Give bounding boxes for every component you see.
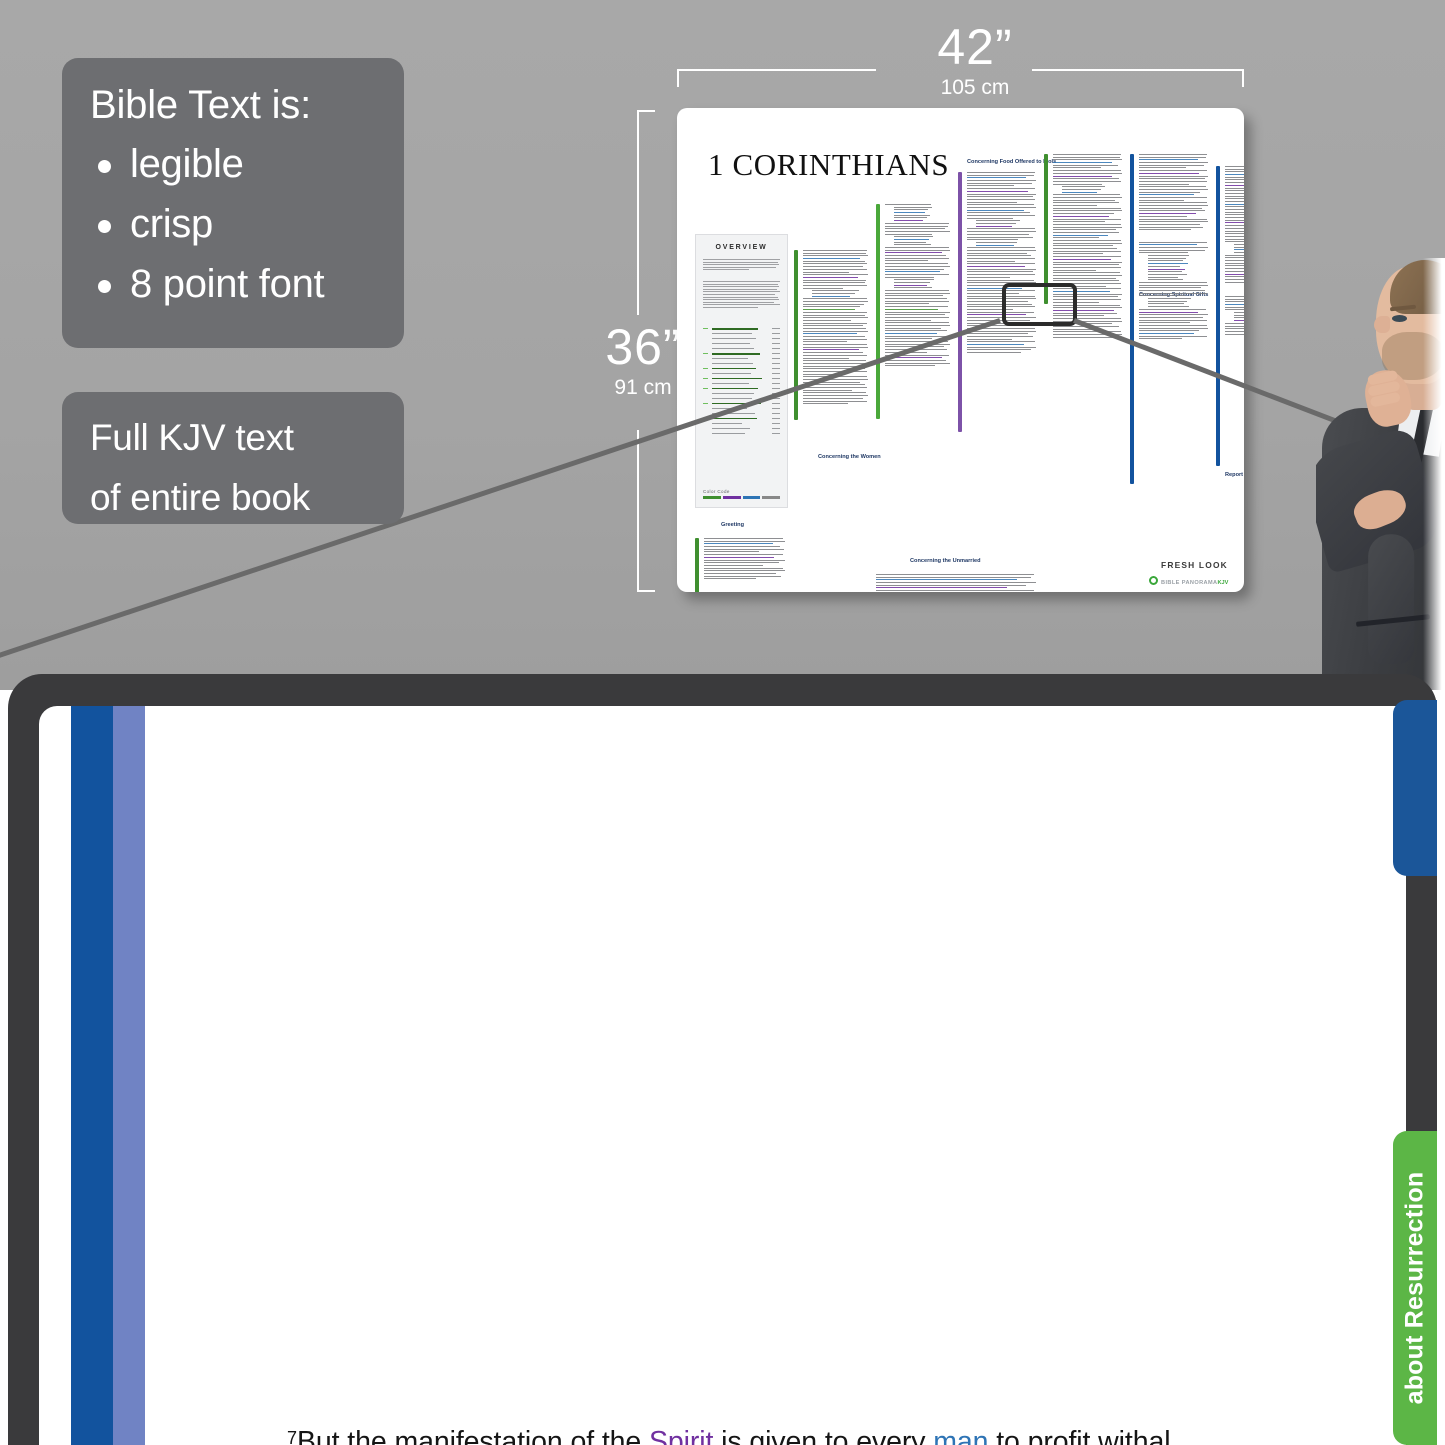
overview-body-text [703, 281, 780, 310]
businessman-photo [1316, 258, 1445, 690]
color-code-label: Color Code [703, 489, 780, 494]
nose [1374, 316, 1390, 333]
fresh-look-logo: FRESH LOOK BIBLE PANORAMAKJV www.freshlo… [1149, 556, 1241, 592]
chapter-spine-dark-blue [71, 706, 113, 1445]
poster-column-greeting: Greeting [695, 524, 785, 592]
poster-width-dimension: 42” 105 cm [880, 22, 1070, 104]
spine-green [876, 204, 880, 419]
side-tab-blue[interactable] [1393, 700, 1437, 876]
verse-number: 7 [287, 1428, 297, 1445]
overview-intro-text [703, 259, 780, 272]
bible-text-title: Bible Text is: [90, 84, 376, 126]
poster-section-heading: Concerning the Unmarried [910, 558, 981, 564]
eye [1392, 315, 1407, 322]
bible-text-bullet-list: legible crisp 8 point font [90, 134, 376, 314]
verse-text: But the manifestation of the Spirit is g… [297, 1426, 1178, 1445]
poster-color-code-legend: Color Code [703, 489, 780, 499]
magnified-region-selection[interactable] [1002, 283, 1077, 326]
side-tab-resurrection[interactable]: about Resurrection [1393, 1131, 1437, 1445]
spine-green [794, 250, 798, 420]
poster-section-heading: Concerning the Women [818, 454, 881, 460]
width-guide-left [677, 69, 876, 71]
legend-swatch-green [703, 496, 721, 499]
height-tick-top [637, 110, 655, 112]
poster-column-2 [876, 204, 950, 592]
column-text [876, 574, 1036, 592]
spine-purple [958, 172, 962, 432]
kjv-line-2: of entire book [90, 468, 376, 528]
poster-column-women: Concerning the Women [810, 456, 920, 476]
column-text [885, 204, 950, 368]
legend-swatch-blue [743, 496, 761, 499]
poster-overview-heading: OVERVIEW [696, 244, 787, 251]
poster-column-unmarried: Concerning the Unmarried [876, 560, 1036, 592]
spine-green [695, 538, 699, 592]
bible-text-callout-box: Bible Text is: legible crisp 8 point fon… [62, 58, 404, 348]
width-tick-right [1242, 69, 1244, 87]
legend-swatch-gray [762, 496, 780, 499]
photo-edge-fade [1423, 258, 1445, 690]
product-scene: 42” 105 cm 36” 91 cm 1 CORINTHIANS OVERV… [0, 0, 1445, 690]
bullet-font-size: 8 point font [90, 254, 376, 314]
bullet-crisp: crisp [90, 194, 376, 254]
poster-section-heading: Greeting [721, 522, 744, 528]
height-tick-bottom [637, 590, 655, 592]
legend-swatch-purple [723, 496, 741, 499]
kjv-line-1: Full KJV text [90, 408, 376, 468]
poster-title: 1 CORINTHIANS [708, 147, 949, 183]
poster-overview-panel: OVERVIEW [695, 234, 788, 508]
bullet-legible: legible [90, 134, 376, 194]
spine-blue [1130, 154, 1134, 484]
verse-line-7: 7But the manifestation of the Spirit is … [287, 1418, 1197, 1445]
poster-column-5: Concerning Spiritual Gifts [1130, 154, 1208, 592]
height-guide-top [637, 110, 639, 315]
overview-contents-list [703, 327, 780, 437]
logo-ring-icon [1149, 576, 1158, 585]
poster-section-heading: Concerning Food Offered to Idols [967, 159, 1056, 165]
width-tick-left [677, 69, 679, 87]
column-text [704, 538, 785, 581]
poster-column-4 [1044, 154, 1122, 592]
poster-section-heading: Report about Resurrection [1225, 472, 1244, 478]
height-guide-bottom [637, 430, 639, 592]
verse-text-block: 7But the manifestation of the Spirit is … [287, 1418, 1197, 1445]
chapter-spine-light-blue [113, 706, 145, 1445]
logo-name: FRESH LOOK [1161, 560, 1228, 570]
spine-blue [1216, 166, 1220, 466]
screenshot-root: 42” 105 cm 36” 91 cm 1 CORINTHIANS OVERV… [0, 0, 1445, 1445]
column-text [1139, 154, 1208, 341]
logo-subtitle: BIBLE PANORAMA [1161, 580, 1217, 586]
poster-width-metric: 105 cm [880, 72, 1070, 104]
poster-width-inches: 42” [880, 22, 1070, 72]
magnified-page: 7But the manifestation of the Spirit is … [39, 706, 1406, 1445]
side-tab-label: about Resurrection [1401, 1172, 1430, 1405]
poster-column-1 [794, 250, 868, 592]
forearm [1368, 534, 1414, 664]
poster-column-3: Concerning Food Offered to Idols [958, 172, 1036, 592]
spine-green [1044, 154, 1048, 304]
column-text [1225, 166, 1244, 336]
kjv-callout-box: Full KJV text of entire book [62, 392, 404, 524]
logo-version: KJV [1217, 580, 1228, 586]
